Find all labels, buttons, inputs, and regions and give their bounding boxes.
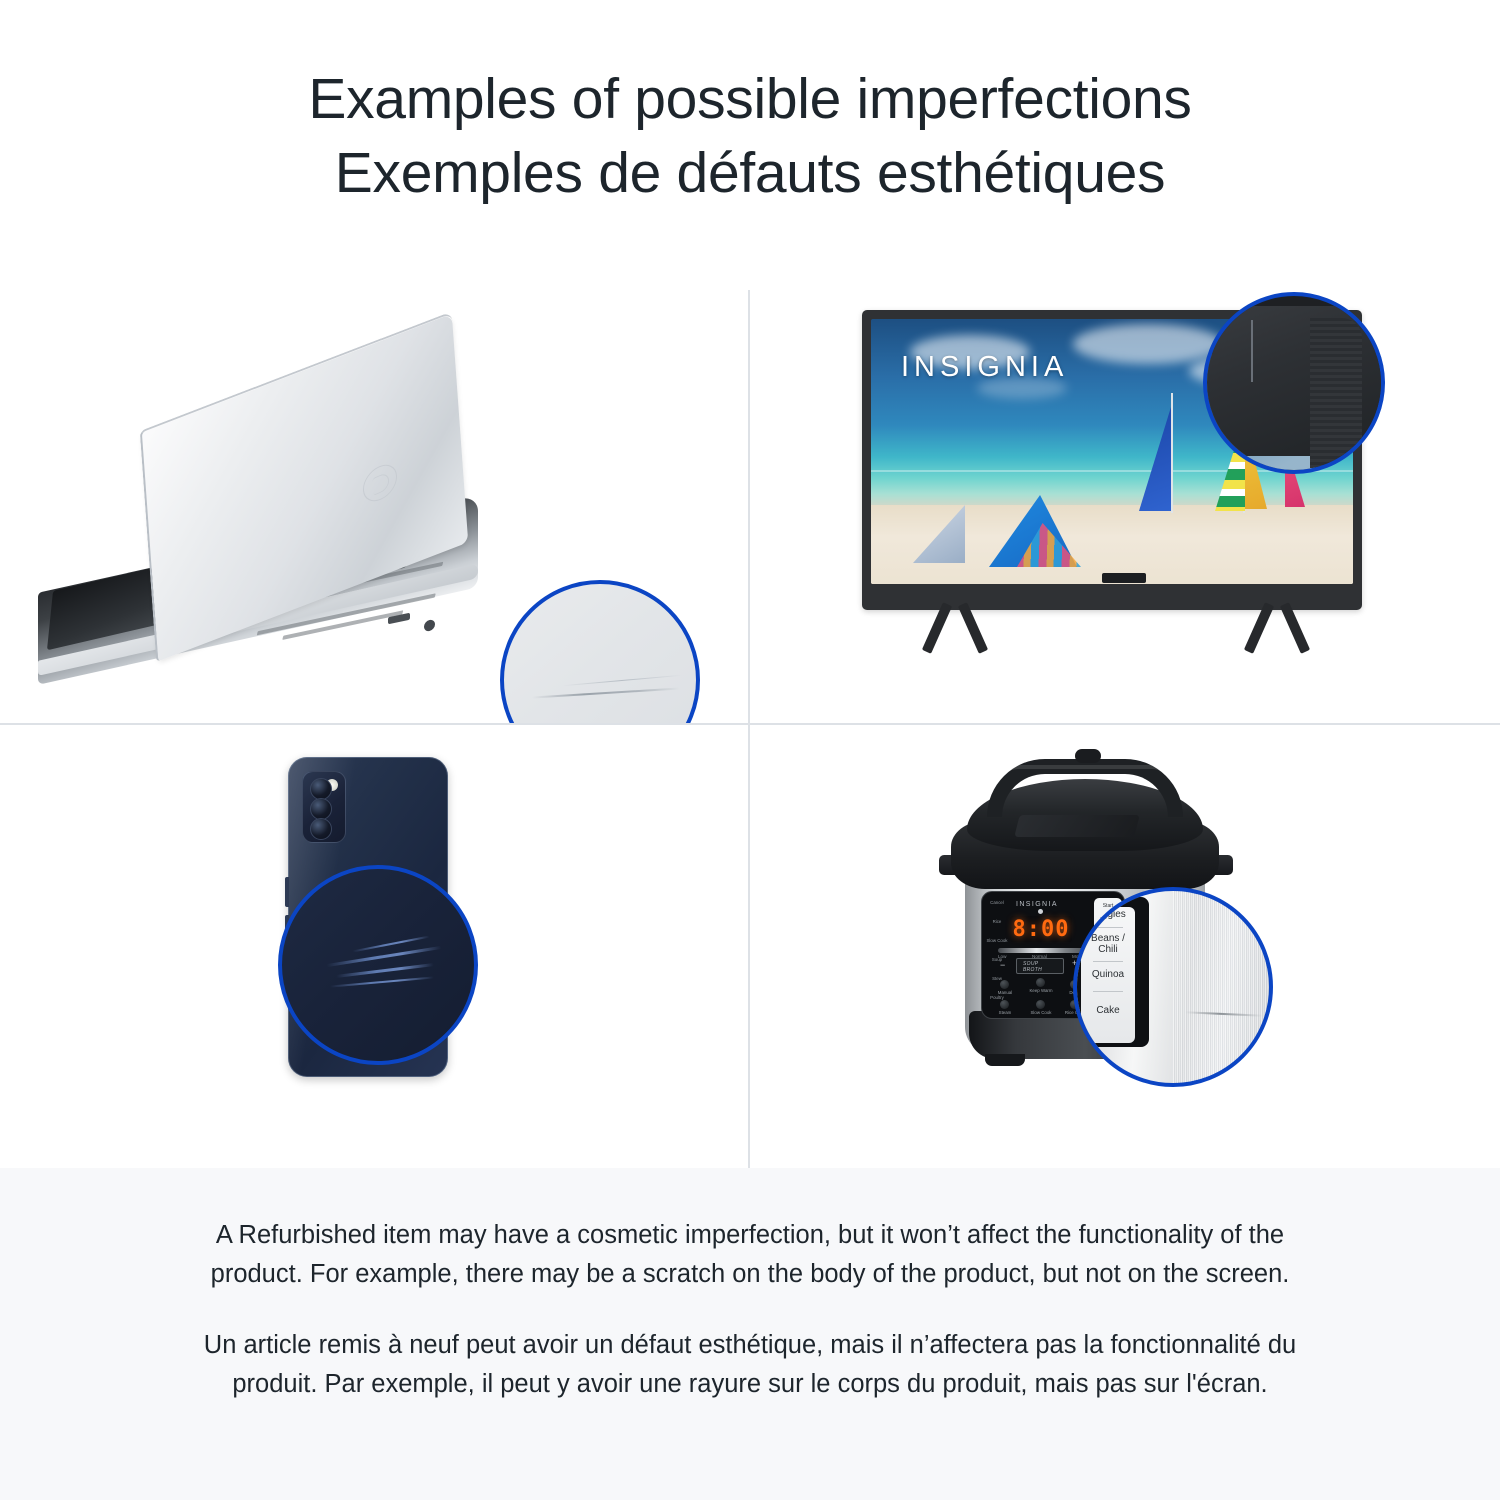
left-button-rice[interactable]: Rice — [986, 919, 1008, 924]
left-button-soup[interactable]: Soup — [986, 957, 1008, 962]
camera-lens-icon — [310, 818, 332, 840]
magnified-right-column: Veggies Beans / Chili Quinoa Cake — [1081, 907, 1135, 1043]
scratch-mark — [562, 675, 682, 687]
example-cell-television: INSIGNIA — [750, 262, 1500, 723]
magnifier-circle-laptop — [500, 580, 700, 723]
cooker-status-led — [1038, 909, 1043, 914]
cooker-steam-valve — [1075, 749, 1101, 763]
left-button-stew[interactable]: Stew — [986, 976, 1008, 981]
cooker-program-readout: SOUP BROTH — [1016, 958, 1064, 974]
cooker-left-button-column[interactable]: Cancel Rice Slow Cook Soup Stew Poultry — [986, 900, 1008, 1012]
television-illustration: INSIGNIA — [848, 284, 1418, 674]
pressure-cooker-illustration: INSIGNIA 8:00 Low Normal More SOUP BROTH… — [925, 743, 1325, 1143]
camera-module-icon — [302, 771, 346, 843]
scratch-mark — [330, 976, 434, 987]
laptop-audio-jack — [424, 619, 435, 632]
product-example-grid: INSIGNIA — [0, 262, 1500, 1168]
page-header: Examples of possible imperfections Exemp… — [0, 0, 1500, 262]
smartphone-illustration — [230, 747, 520, 1147]
pad-label-slow-cook[interactable]: Slow Cook — [1028, 1010, 1054, 1015]
page-title-fr: Exemples de défauts esthétiques — [335, 136, 1165, 210]
cooker-display: 8:00 — [1010, 916, 1072, 942]
magnified-button-veggies: Veggies — [1083, 909, 1133, 920]
program-line-2: BROTH — [1023, 967, 1042, 973]
disclaimer-text-fr: Un article remis à neuf peut avoir un dé… — [190, 1326, 1310, 1404]
left-button-poultry[interactable]: Poultry — [986, 995, 1008, 1000]
example-cell-laptop — [0, 262, 748, 723]
magnifier-circle-pressure-cooker: Delay Slow Cook Veggies Beans / Chili Qu… — [1073, 887, 1273, 1087]
phone-volume-button — [285, 877, 289, 907]
example-cell-pressure-cooker: INSIGNIA 8:00 Low Normal More SOUP BROTH… — [750, 725, 1500, 1168]
camera-lens-icon — [310, 798, 332, 820]
left-button-cancel[interactable]: Cancel — [986, 900, 1008, 905]
cooker-display-value: 8:00 — [1013, 917, 1070, 942]
disclaimer-footer: A Refurbished item may have a cosmetic i… — [0, 1168, 1500, 1500]
scratch-mark — [532, 687, 680, 698]
left-button-slow-cook[interactable]: Slow Cook — [986, 938, 1008, 943]
magnified-button-cake: Cake — [1083, 1005, 1133, 1016]
scratch-mark — [336, 963, 434, 978]
tv-bezel-detail — [1203, 306, 1385, 456]
cooker-handle-highlight — [999, 765, 1171, 785]
laptop-illustration — [30, 362, 530, 662]
stainless-texture — [1173, 891, 1273, 1087]
example-cell-smartphone — [0, 725, 748, 1168]
disclaimer-text-en: A Refurbished item may have a cosmetic i… — [190, 1216, 1310, 1294]
page-title-en: Examples of possible imperfections — [308, 62, 1191, 136]
cooker-brand-label: INSIGNIA — [1016, 901, 1058, 908]
magnifier-circle-smartphone — [278, 865, 478, 1065]
tv-ir-sensor — [1102, 573, 1146, 583]
control-panel-detail: Delay Slow Cook Veggies Beans / Chili Qu… — [1073, 897, 1149, 1047]
tv-screen-logo: INSIGNIA — [901, 351, 1068, 384]
cooker-pad-button — [1036, 978, 1045, 987]
magnified-button-quinoa: Quinoa — [1083, 969, 1133, 980]
cooker-pad-button — [1036, 1000, 1045, 1009]
cooker-foot — [985, 1054, 1025, 1066]
cooker-lid-graphic — [1014, 815, 1139, 837]
sailboat — [1139, 407, 1171, 511]
tv-bezel-side — [1310, 318, 1362, 468]
camera-lens-icon — [310, 778, 332, 800]
magnifier-circle-television — [1203, 292, 1385, 474]
magnified-button-beans-chili: Beans / Chili — [1083, 933, 1133, 955]
scratch-mark — [1251, 320, 1253, 382]
pad-label-keep-warm[interactable]: Keep Warm — [1028, 988, 1054, 993]
refurbished-imperfections-infographic: Examples of possible imperfections Exemp… — [0, 0, 1500, 1500]
